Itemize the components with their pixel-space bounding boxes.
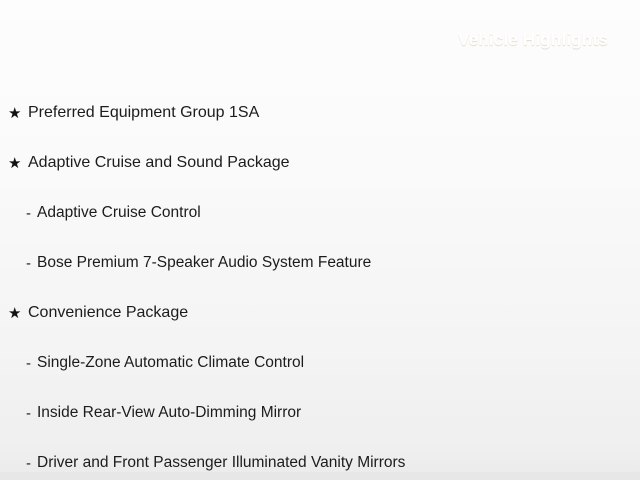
highlights-list: ★Preferred Equipment Group 1SA★Adaptive … bbox=[0, 80, 640, 488]
list-item: -Single-Zone Automatic Climate Control bbox=[0, 338, 640, 388]
list-item-label: Adaptive Cruise Control bbox=[37, 204, 201, 223]
list-item-label: Adaptive Cruise and Sound Package bbox=[28, 153, 290, 172]
header-banner: Vehicle Highlights bbox=[0, 0, 640, 80]
list-item-label: Inside Rear-View Auto-Dimming Mirror bbox=[37, 404, 301, 423]
dash-icon: - bbox=[26, 206, 37, 221]
star-icon: ★ bbox=[8, 106, 28, 121]
dash-icon: - bbox=[26, 256, 37, 271]
list-item: -Adaptive Cruise Control bbox=[0, 188, 640, 238]
star-icon: ★ bbox=[8, 306, 28, 321]
list-item: ★Adaptive Cruise and Sound Package bbox=[0, 138, 640, 188]
page-title: Vehicle Highlights bbox=[458, 30, 640, 50]
vehicle-highlights-slide: Vehicle Highlights ★Preferred Equipment … bbox=[0, 0, 640, 480]
list-item: ★Convenience Package bbox=[0, 288, 640, 338]
star-icon: ★ bbox=[8, 156, 28, 171]
list-item-label: Preferred Equipment Group 1SA bbox=[28, 103, 259, 122]
list-item-label: Bose Premium 7-Speaker Audio System Feat… bbox=[37, 254, 371, 273]
list-item-label: Single-Zone Automatic Climate Control bbox=[37, 354, 304, 373]
bottom-divider bbox=[0, 472, 640, 480]
list-item: -Driver and Front Passenger Illuminated … bbox=[0, 438, 640, 488]
list-item: ★Preferred Equipment Group 1SA bbox=[0, 88, 640, 138]
list-item: -Inside Rear-View Auto-Dimming Mirror bbox=[0, 388, 640, 438]
dash-icon: - bbox=[26, 456, 37, 471]
dash-icon: - bbox=[26, 356, 37, 371]
list-item: -Bose Premium 7-Speaker Audio System Fea… bbox=[0, 238, 640, 288]
dash-icon: - bbox=[26, 406, 37, 421]
list-item-label: Convenience Package bbox=[28, 303, 188, 322]
list-item-label: Driver and Front Passenger Illuminated V… bbox=[37, 454, 405, 473]
